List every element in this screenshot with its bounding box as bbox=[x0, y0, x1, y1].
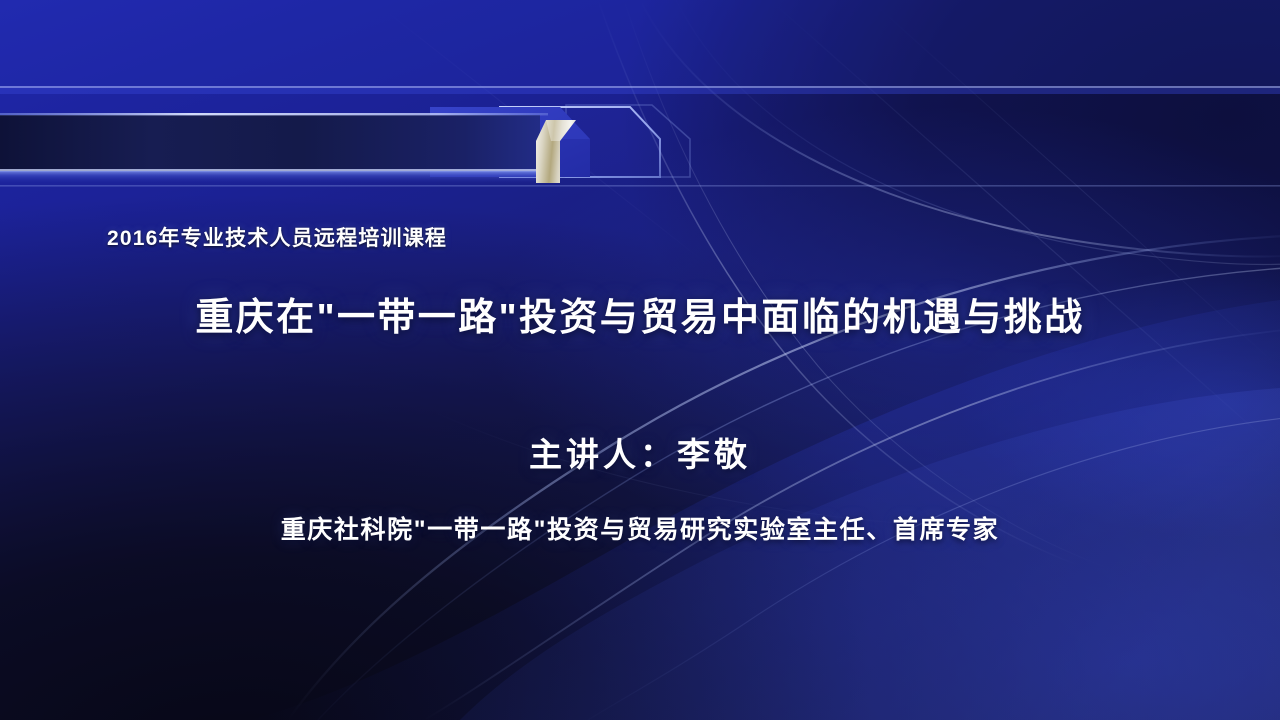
title-slide: 2016年专业技术人员远程培训课程 重庆在"一带一路"投资与贸易中面临的机遇与挑… bbox=[0, 0, 1280, 720]
presenter-line: 主讲人：李敬 bbox=[0, 428, 1280, 476]
course-banner-shape bbox=[0, 95, 1280, 190]
presenter-affiliation: 重庆社科院"一带一路"投资与贸易研究实验室主任、首席专家 bbox=[0, 510, 1280, 546]
banner-course-label: 2016年专业技术人员远程培训课程 bbox=[107, 222, 537, 252]
slide-headline: 重庆在"一带一路"投资与贸易中面临的机遇与挑战 bbox=[0, 286, 1280, 341]
course-banner: 2016年专业技术人员远程培训课程 bbox=[0, 95, 1280, 190]
